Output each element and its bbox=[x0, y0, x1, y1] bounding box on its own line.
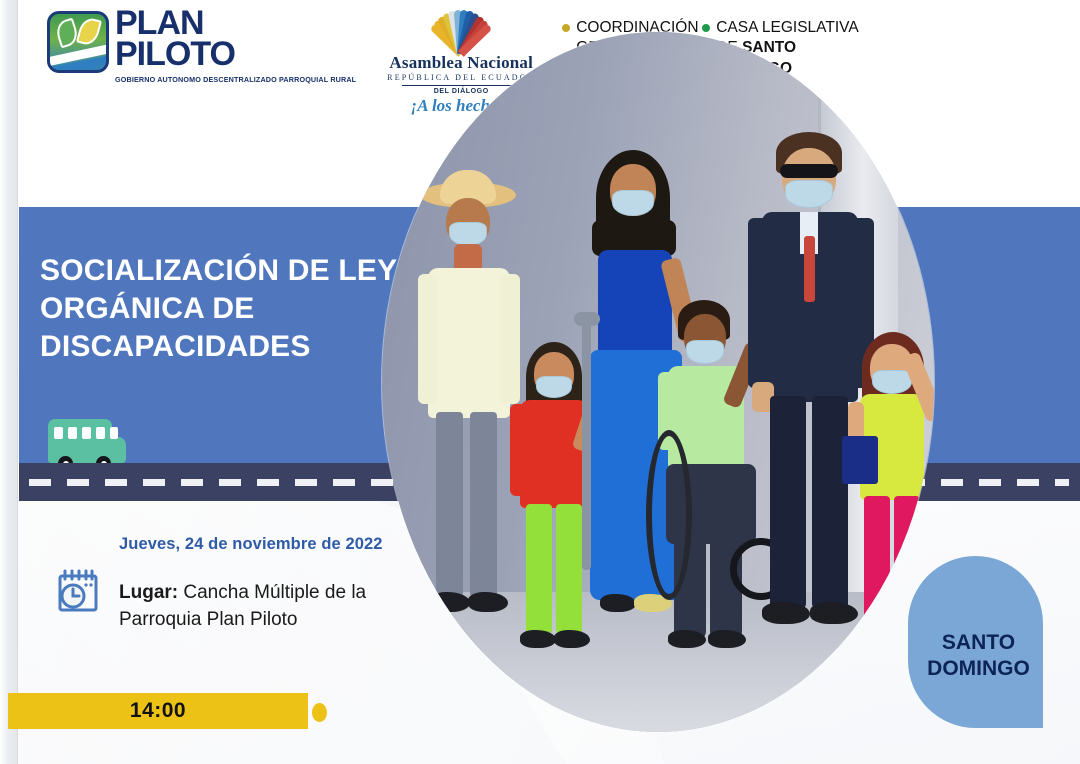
event-time-bar: 14:00 bbox=[8, 693, 308, 729]
left-edge-strip bbox=[0, 0, 18, 764]
badge-line-1: SANTO bbox=[927, 630, 1030, 656]
coordinacion-bullet-icon bbox=[562, 24, 570, 32]
status-badge: SANTO DOMINGO bbox=[908, 556, 1043, 728]
event-poster: PLAN PILOTO GOBIERNO AUTONOMO DESCENTRAL… bbox=[0, 0, 1080, 764]
plan-piloto-subtitle: GOBIERNO AUTONOMO DESCENTRALIZADO PARROQ… bbox=[115, 75, 356, 84]
plan-piloto-logo: PLAN PILOTO GOBIERNO AUTONOMO DESCENTRAL… bbox=[47, 8, 356, 84]
event-place: Lugar: Cancha Múltiple de la Parroquia P… bbox=[119, 580, 419, 634]
event-time: 14:00 bbox=[130, 699, 186, 723]
page-title: SOCIALIZACIÓN DE LEY ORGÁNICA DE DISCAPA… bbox=[40, 252, 397, 366]
title-line-2: DISCAPACIDADES bbox=[40, 328, 397, 366]
figure-farmer bbox=[412, 182, 522, 662]
title-line-0: SOCIALIZACIÓN DE LEY bbox=[40, 252, 397, 290]
plan-piloto-leaf-landscape-logo-icon bbox=[47, 11, 109, 73]
event-photo bbox=[382, 32, 934, 732]
place-value-line1: Cancha Múltiple de la bbox=[183, 582, 366, 603]
plan-piloto-line2: PILOTO bbox=[115, 39, 356, 70]
place-value-line2: Parroquia Plan Piloto bbox=[119, 609, 298, 630]
bus-icon bbox=[48, 419, 130, 467]
event-date: Jueves, 24 de noviembre de 2022 bbox=[119, 535, 383, 554]
casa-legislativa-bullet-icon bbox=[702, 24, 710, 32]
time-bar-dot bbox=[312, 703, 327, 722]
calendar-clock-icon bbox=[56, 568, 100, 614]
badge-line-2: DOMINGO bbox=[927, 656, 1030, 682]
title-line-1: ORGÁNICA DE bbox=[40, 290, 397, 328]
place-label: Lugar: bbox=[119, 582, 178, 603]
